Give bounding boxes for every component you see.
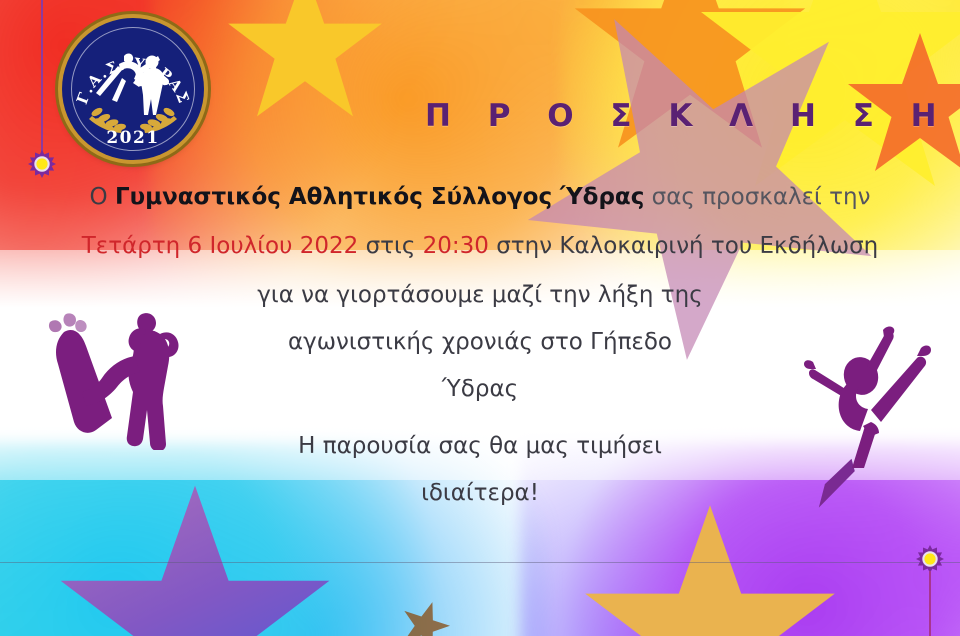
- gold-star-bottom-right: [580, 500, 840, 636]
- invite-line-3: για να γιορτάσουμε μαζί την λήξη της: [0, 284, 960, 307]
- orange-star-top-center: [570, 0, 810, 162]
- hairline-divider: [0, 562, 960, 563]
- invitation-body: Ο Γυμναστικός Αθλητικός Σύλλογος Ύδρας σ…: [0, 186, 960, 505]
- ornament-string-top-left: [41, 0, 43, 158]
- page-title: Π Ρ Ο Σ Κ Λ Η Σ Η: [425, 98, 950, 134]
- invite-line-2: Τετάρτη 6 Ιουλίου 2022 στις 20:30 στην Κ…: [0, 235, 960, 258]
- small-purple-star-bottom-center: [393, 593, 456, 636]
- emblem-year: 2021: [106, 128, 159, 148]
- hanging-starburst-top-left: [28, 0, 56, 200]
- invite-line-2-tail: στην Καλοκαιρινή του Εκδήλωση: [489, 233, 878, 259]
- starburst-icon-top-left: [28, 150, 56, 178]
- club-name: Γυμναστικός Αθλητικός Σύλλογος Ύδρας: [115, 184, 644, 210]
- event-venue: Ύδρας: [0, 378, 960, 401]
- invitation-poster: Γ.Α.Σ. ΥΔΡΑΣ: [0, 0, 960, 636]
- invite-line-2-mid: στις: [358, 233, 422, 259]
- invite-line-1: Ο Γυμναστικός Αθλητικός Σύλλογος Ύδρας σ…: [0, 186, 960, 209]
- emblem-artwork: Γ.Α.Σ. ΥΔΡΑΣ: [62, 18, 204, 160]
- invite-line-1-tail: σας προσκαλεί την: [644, 184, 870, 210]
- event-time: 20:30: [423, 233, 489, 259]
- invite-line-7: ιδιαίτερα!: [0, 482, 960, 505]
- club-emblem: Γ.Α.Σ. ΥΔΡΑΣ: [62, 18, 204, 160]
- event-date: Τετάρτη 6 Ιουλίου 2022: [82, 233, 359, 259]
- invite-line-1-prefix: Ο: [90, 184, 115, 210]
- yellow-star-top-left: [225, 0, 385, 126]
- ornament-stem-bottom-right: [929, 571, 931, 636]
- starburst-icon-bottom-right: [916, 545, 944, 573]
- invite-line-6: Η παρουσία σας θα μας τιμήσει: [0, 435, 960, 458]
- hanging-starburst-bottom-right: [915, 545, 945, 636]
- invite-line-4: αγωνιστικής χρονιάς στο Γήπεδο: [0, 331, 960, 354]
